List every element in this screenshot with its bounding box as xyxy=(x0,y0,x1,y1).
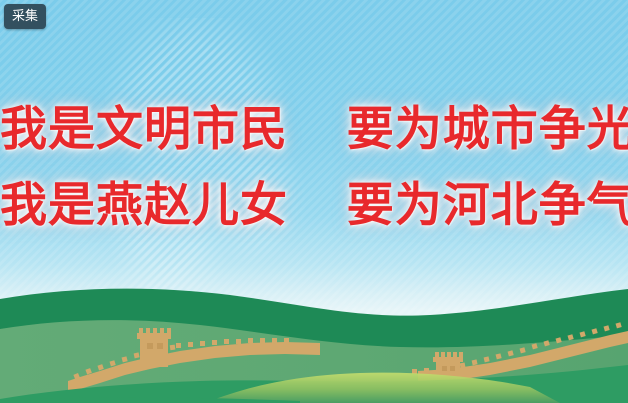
wall-tower-left xyxy=(137,328,171,367)
decorative-watermark-shape xyxy=(105,18,320,308)
capture-button[interactable]: 采集 xyxy=(4,4,46,29)
banner-screenshot: 我是文明市民 要为城市争光 我是燕赵儿女 要为河北争气 采集 xyxy=(0,0,628,403)
landscape-illustration xyxy=(0,273,628,403)
